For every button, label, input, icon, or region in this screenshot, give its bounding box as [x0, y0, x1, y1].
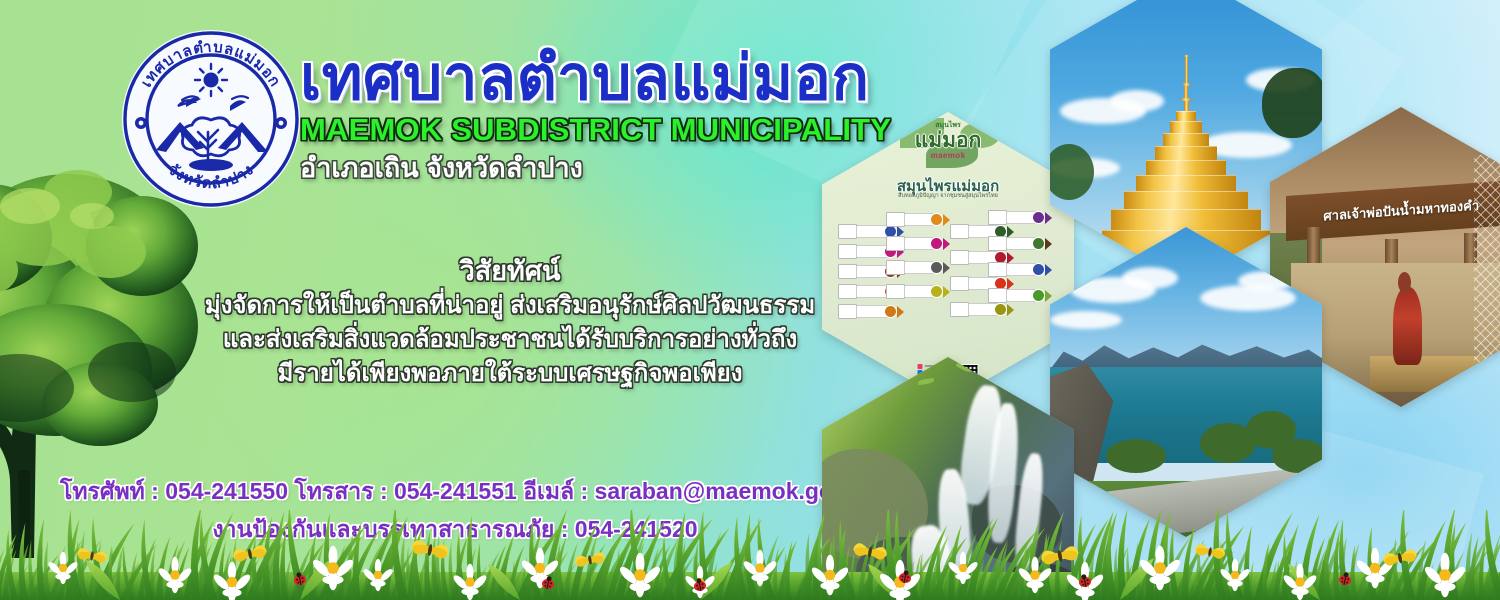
shrine-label: ศาลเจ้าพ่อปันน้ำมหาทองคำ [1323, 195, 1479, 227]
vision-line-2: และส่งเสริมสิ่งแวดล้อมประชาชนได้รับบริกา… [190, 323, 830, 357]
poster-product-grid [838, 206, 1058, 338]
shrine-idol [1393, 287, 1422, 365]
shrine-altar [1370, 356, 1485, 392]
pagoda-label-line2: บ้านกุ่ [1292, 2, 1314, 16]
cloud-shape [1050, 311, 1122, 329]
shrine-mesh-gate [1474, 155, 1500, 377]
road [1059, 465, 1322, 537]
poster-logo: สมุนไพร แม่มอก maemok [915, 120, 982, 160]
leaf-icon [992, 373, 1009, 383]
vision-block: วิสัยทัศน์ มุ่งจัดการให้เป็นตำบลที่น่าอย… [190, 255, 830, 391]
cloud-shape [1238, 271, 1294, 291]
vision-line-1: มุ่งจัดการให้เป็นตำบลที่น่าอยู่ ส่งเสริม… [190, 289, 830, 323]
poster-subtitle: สืบทอดภูมิปัญญา จากชุมชนสู่สมุนไพรไทย [822, 192, 1074, 200]
poster-logo-sub: maemok [915, 151, 982, 160]
water-pool [878, 571, 998, 600]
vision-title: วิสัยทัศน์ [190, 255, 830, 289]
vision-line-3: มีรายได้เพียงพอภายใต้ระบบเศรษฐกิจพอเพียง [190, 357, 830, 391]
leaf-icon [846, 368, 863, 379]
poster-logo-main: แม่มอก [915, 131, 982, 151]
municipal-seal-icon: เทศบาลตำบลแม่มอก จังหวัดลำปาง [120, 28, 302, 210]
leaf-icon [878, 365, 895, 374]
hex-photo-waterfall[interactable] [822, 357, 1074, 600]
municipality-banner: เทศบาลตำบลแม่มอก จังหวัดลำปาง เทศบาลตำบล… [0, 0, 1500, 600]
photo-collage: สมุนไพร แม่มอก maemok สมุนไพรแม่มอก สืบท… [800, 0, 1500, 578]
contact-block: โทรศัพท์ : 054-241550 โทรสาร : 054-24155… [60, 473, 850, 549]
contact-line-emergency[interactable]: งานป้องกันและบรรเทาสาธารณภัย : 054-24152… [60, 511, 850, 549]
hex-photo-reservoir-dam[interactable] [1050, 227, 1322, 537]
cloud-shape [1122, 267, 1178, 289]
pagoda-label-line3: อำเภ [1295, 16, 1312, 29]
bush-shape [1272, 439, 1322, 473]
bush-shape [1106, 439, 1166, 473]
contact-line-phone-fax-email[interactable]: โทรศัพท์ : 054-241550 โทรสาร : 054-24155… [60, 473, 850, 511]
